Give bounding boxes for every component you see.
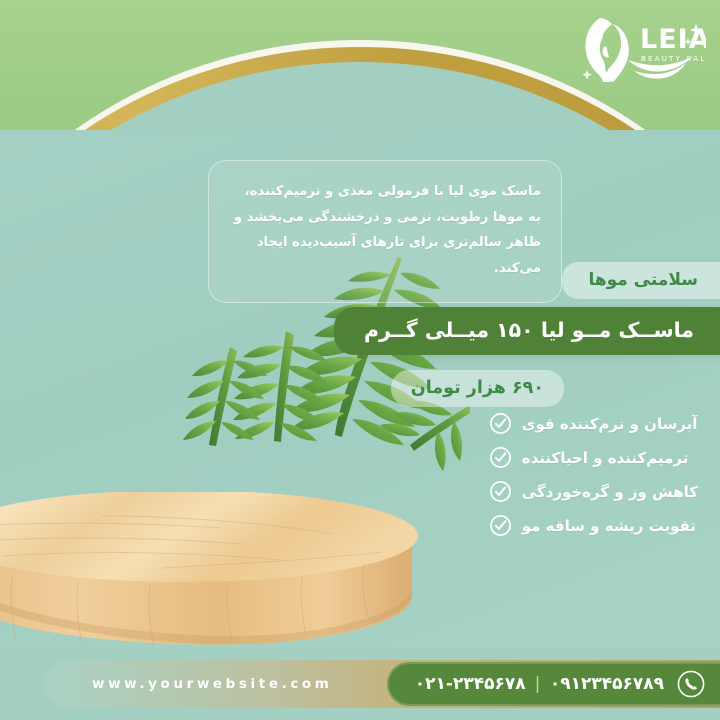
- subtitle-badge-label: سلامتی موها: [588, 270, 698, 290]
- feature-label: آبرسان و نرم‌کننده قوی: [522, 415, 698, 433]
- brand-logo: LEIA BEAUTY SALON: [556, 8, 706, 86]
- check-circle-icon: [489, 514, 512, 537]
- phone-numbers[interactable]: ۰۹۱۲۳۴۵۶۷۸۹ | ۰۲۱-۲۳۴۵۶۷۸: [415, 674, 664, 694]
- check-circle-icon: [489, 446, 512, 469]
- product-title-label: ماســک مــو لیا ۱۵۰ میــلی گــرم: [364, 318, 694, 342]
- wooden-podium-icon: [0, 492, 422, 652]
- list-item: کاهش وز و گره‌خوردگی: [489, 480, 698, 503]
- price-badge: ۶۹۰ هزار تومان: [391, 370, 564, 407]
- feature-label: تقویت ریشه و ساقه مو: [522, 517, 696, 535]
- logo-tagline: BEAUTY SALON: [641, 54, 706, 63]
- wooden-podium: [0, 492, 422, 652]
- poster-canvas: LEIA BEAUTY SALON ماسک موی لیا با فرمولی…: [0, 0, 720, 720]
- price-label: ۶۹۰ هزار تومان: [411, 378, 544, 398]
- website-block[interactable]: www.yourwebsite.com: [92, 660, 332, 708]
- product-title-badge: ماســک مــو لیا ۱۵۰ میــلی گــرم: [334, 307, 720, 355]
- feature-label: ترمیم‌کننده و احیاکننده: [522, 449, 689, 467]
- phone-mobile-label[interactable]: ۰۹۱۲۳۴۵۶۷۸۹: [550, 674, 664, 694]
- feature-label: کاهش وز و گره‌خوردگی: [522, 483, 698, 501]
- list-item: تقویت ریشه و ساقه مو: [489, 514, 698, 537]
- product-description-text: ماسک موی لیا با فرمولی مغذی و ترمیم‌کنند…: [229, 179, 541, 282]
- phone-landline-label[interactable]: ۰۲۱-۲۳۴۵۶۷۸: [415, 674, 526, 694]
- feature-list: آبرسان و نرم‌کننده قوی ترمیم‌کننده و احی…: [489, 412, 698, 537]
- list-item: آبرسان و نرم‌کننده قوی: [489, 412, 698, 435]
- phone-handset-icon[interactable]: [676, 669, 706, 699]
- footer-gold-bar: www.yourwebsite.com ۰۹۱۲۳۴۵۶۷۸۹ | ۰۲۱-۲۳…: [44, 660, 720, 708]
- check-circle-icon: [489, 480, 512, 503]
- website-label[interactable]: www.yourwebsite.com: [92, 676, 332, 692]
- subtitle-badge: سلامتی موها: [562, 262, 720, 299]
- check-circle-icon: [489, 412, 512, 435]
- list-item: ترمیم‌کننده و احیاکننده: [489, 446, 698, 469]
- product-description-box: ماسک موی لیا با فرمولی مغذی و ترمیم‌کنند…: [208, 160, 562, 303]
- footer-bar-area: www.yourwebsite.com ۰۹۱۲۳۴۵۶۷۸۹ | ۰۲۱-۲۳…: [0, 648, 720, 720]
- phone-separator: |: [535, 674, 541, 694]
- woman-profile-silhouette-icon: LEIA BEAUTY SALON: [556, 8, 706, 86]
- phone-pill[interactable]: ۰۹۱۲۳۴۵۶۷۸۹ | ۰۲۱-۲۳۴۵۶۷۸: [387, 662, 720, 706]
